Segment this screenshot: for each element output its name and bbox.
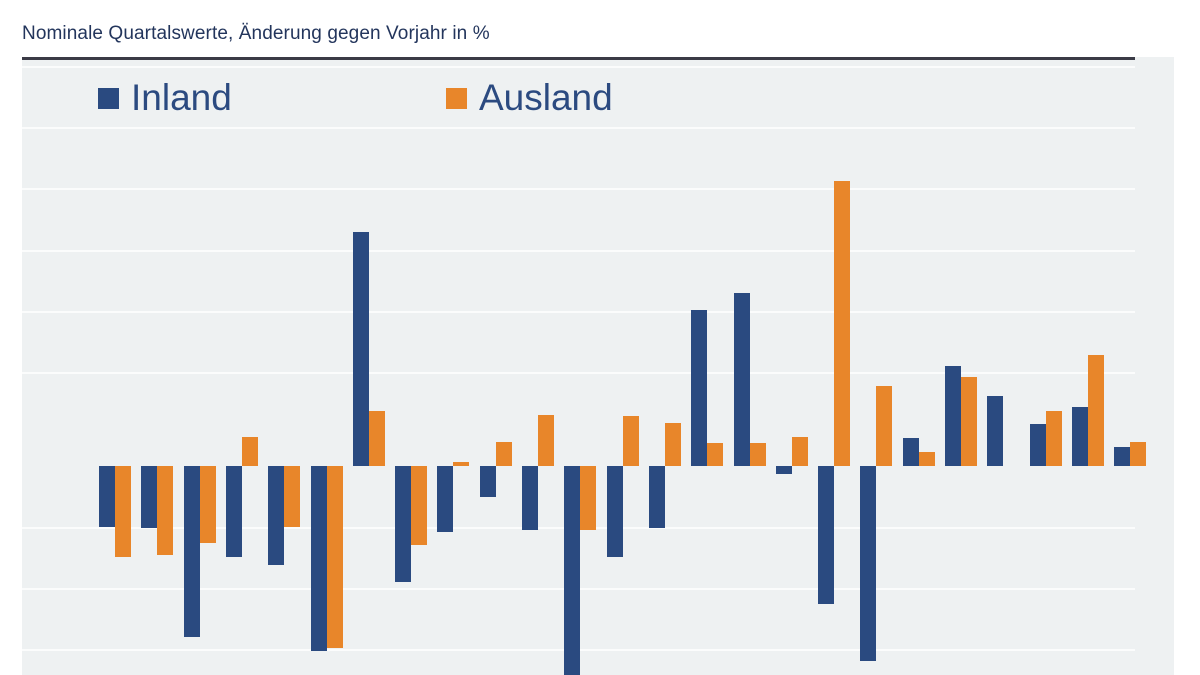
bar-inland: [99, 466, 115, 527]
bar-ausland: [580, 466, 596, 530]
bar-inland: [480, 466, 496, 497]
bar-inland: [522, 466, 538, 530]
zero-axis-line: [22, 57, 1135, 60]
bar-inland: [607, 466, 623, 557]
bar-inland: [776, 466, 792, 474]
square-swatch-icon: [446, 88, 467, 109]
bar-inland: [1030, 424, 1046, 466]
bar-ausland: [453, 462, 469, 466]
bar-inland: [1072, 407, 1088, 466]
bar-inland: [311, 466, 327, 651]
bar-inland: [268, 466, 284, 565]
bar-inland: [141, 466, 157, 528]
bar-ausland: [707, 443, 723, 466]
bar-inland: [649, 466, 665, 528]
bar-ausland: [538, 415, 554, 466]
bar-inland: [691, 310, 707, 466]
bar-ausland: [411, 466, 427, 545]
bar-inland: [353, 232, 369, 466]
bar-inland: [1114, 447, 1130, 466]
bar-ausland: [623, 416, 639, 466]
page-title: Nominale Quartalswerte, Änderung gegen V…: [22, 22, 490, 46]
bar-ausland: [200, 466, 216, 543]
bar-ausland: [961, 377, 977, 466]
bar-ausland: [1130, 442, 1146, 467]
bar-ausland: [369, 411, 385, 466]
legend: Inland Ausland: [22, 65, 1135, 121]
bar-inland: [734, 293, 750, 466]
bar-ausland: [919, 452, 935, 466]
plot-area: Inland Ausland: [22, 57, 1174, 675]
bar-ausland: [834, 181, 850, 466]
bar-ausland: [327, 466, 343, 648]
bar-ausland: [496, 442, 512, 467]
bar-ausland: [284, 466, 300, 527]
bar-inland: [903, 438, 919, 466]
bar-inland: [564, 466, 580, 675]
legend-item-inland[interactable]: Inland: [98, 79, 232, 117]
bar-inland: [818, 466, 834, 604]
square-swatch-icon: [98, 88, 119, 109]
legend-item-label: Ausland: [479, 79, 613, 117]
bar-ausland: [792, 437, 808, 466]
bar-ausland: [157, 466, 173, 555]
chart-page: Nominale Quartalswerte, Änderung gegen V…: [0, 0, 1200, 675]
bar-ausland: [115, 466, 131, 557]
bar-ausland: [1088, 355, 1104, 466]
bar-ausland: [750, 443, 766, 466]
bar-ausland: [876, 386, 892, 466]
bar-inland: [395, 466, 411, 582]
bar-inland: [437, 466, 453, 532]
bar-inland: [860, 466, 876, 661]
bars-layer: [22, 57, 1174, 675]
bar-inland: [987, 396, 1003, 466]
bar-inland: [226, 466, 242, 557]
bar-inland: [184, 466, 200, 637]
legend-item-label: Inland: [131, 79, 232, 117]
bar-ausland: [242, 437, 258, 466]
bar-ausland: [1046, 411, 1062, 466]
legend-item-ausland[interactable]: Ausland: [446, 79, 613, 117]
bar-ausland: [665, 423, 681, 466]
bar-inland: [945, 366, 961, 466]
